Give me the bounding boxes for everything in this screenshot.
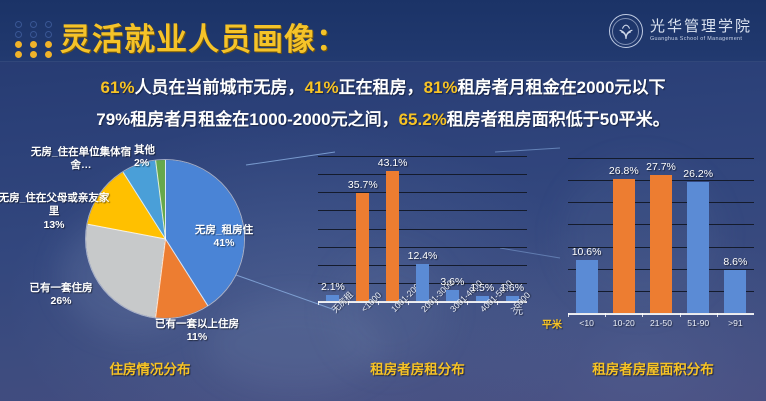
summary-line-1: 61%人员在当前城市无房，41%正在租房，81%租房者月租金在2000元以下	[101, 73, 666, 98]
summary-text: 租房者租房面积低于50平米。	[447, 110, 670, 129]
bar-value-label: 26.8%	[609, 165, 639, 177]
chart-title-area-distribution: 租房者房屋面积分布	[540, 358, 766, 378]
seal-icon	[609, 14, 643, 48]
pie-label-one-home: 已有一套住房 26%	[6, 282, 116, 309]
summary-line-2: 79%租房者月租金在1000-2000元之间，65.2%租房者租房面积低于50平…	[96, 105, 669, 130]
bar-4[interactable]: 26.2%	[687, 182, 709, 313]
bar-fill	[613, 179, 635, 313]
x-axis-tick	[437, 301, 438, 305]
x-axis-tick	[605, 313, 606, 317]
gridline	[318, 174, 527, 175]
bar-fill	[576, 260, 598, 313]
pie-slice-divider	[155, 239, 166, 318]
bar-3[interactable]: 27.7%	[650, 175, 672, 314]
x-axis-tick	[467, 301, 468, 305]
logo-name-en: Guanghua School of Management	[650, 37, 752, 42]
x-axis-label: >91	[728, 318, 743, 328]
x-axis-label: 10-20	[613, 318, 635, 328]
chart-title-housing-situation: 住房情况分布	[0, 358, 300, 378]
summary-stat: 41%	[305, 78, 339, 97]
x-axis-tick	[680, 313, 681, 317]
summary-text: 79%租房者月租金在1000-2000元之间，	[96, 110, 398, 129]
gridline	[318, 247, 527, 248]
bar-fill	[416, 264, 429, 301]
x-axis-label: 21-50	[650, 318, 672, 328]
bar-2[interactable]: 26.8%	[613, 179, 635, 313]
axis-unit-label: 元	[514, 304, 523, 317]
chart-rent-distribution-bar: 2.1%无房租35.7%<100043.1%1001-200012.4%2001…	[300, 146, 535, 346]
bar-value-label: 35.7%	[348, 179, 378, 191]
bar-fill	[687, 182, 709, 313]
x-axis-tick	[717, 313, 718, 317]
bar-value-label: 27.7%	[646, 161, 676, 173]
x-axis-tick	[497, 301, 498, 305]
bar-value-label: 8.6%	[723, 256, 747, 268]
x-axis-tick	[642, 313, 643, 317]
bar-fill	[356, 193, 369, 301]
summary-stat: 81%	[424, 78, 458, 97]
bar-value-label: 43.1%	[378, 157, 408, 169]
bar-5[interactable]: 8.6%	[724, 270, 746, 313]
gridline	[318, 229, 527, 230]
x-axis-label: <10	[579, 318, 594, 328]
x-axis-tick	[318, 301, 319, 305]
bar-value-label: 1.6%	[500, 282, 524, 294]
bar-fill	[650, 175, 672, 314]
axis-unit-label: 平米	[542, 316, 562, 331]
x-axis-tick	[378, 301, 379, 305]
bar-4[interactable]: 12.4%	[416, 264, 429, 301]
x-axis-label: 51-90	[687, 318, 709, 328]
slide-header: 灵活就业人员画像： 光华管理学院 Guanghua School of Mana…	[0, 0, 766, 62]
chart-housing-situation-pie: 无房_租房住 41% 已有一套以上住房 11% 已有一套住房 26% 无房_住在…	[0, 146, 300, 346]
page-title: 灵活就业人员画像：	[60, 14, 348, 59]
bar-fill	[724, 270, 746, 313]
chart-title-rent-distribution: 租房者房租分布	[300, 358, 535, 378]
bar-value-label: 3.6%	[440, 276, 464, 288]
pie-label-dormitory: 无房_住在单位集体宿舍…	[22, 146, 140, 173]
slide-canvas: 灵活就业人员画像： 光华管理学院 Guanghua School of Mana…	[0, 0, 766, 401]
bar-3[interactable]: 43.1%	[386, 171, 399, 301]
pie-label-more-than-one-home: 已有一套以上住房 11%	[122, 318, 272, 345]
bar-fill	[386, 171, 399, 301]
gridline	[318, 156, 527, 157]
bar-value-label: 10.6%	[572, 246, 602, 258]
x-axis-tick	[568, 313, 569, 317]
x-axis-tick	[348, 301, 349, 305]
pie-slice-divider	[123, 172, 166, 239]
chart-area-distribution-bar: 10.6%<1026.8%10-2027.7%21-5026.2%51-908.…	[540, 146, 766, 346]
summary-stat: 61%	[101, 78, 135, 97]
pie-slice-divider	[165, 160, 166, 239]
bar-value-label: 12.4%	[408, 250, 438, 262]
logo-name-cn: 光华管理学院	[650, 19, 752, 34]
summary-text: 人员在当前城市无房，	[135, 78, 305, 97]
bar-value-label: 2.1%	[321, 281, 345, 293]
summary-text-block: 61%人员在当前城市无房，41%正在租房，81%租房者月租金在2000元以下 7…	[0, 62, 766, 140]
summary-text: 租房者月租金在2000元以下	[458, 78, 666, 97]
bar-1[interactable]: 10.6%	[576, 260, 598, 313]
bar-2[interactable]: 35.7%	[356, 193, 369, 301]
decorative-dot-grid	[15, 21, 57, 54]
pie-label-renting: 无房_租房住 41%	[176, 224, 272, 251]
gridline	[318, 210, 527, 211]
summary-text: 正在租房，	[339, 78, 424, 97]
pie-label-other: 其他 2%	[134, 144, 155, 171]
bar-value-label: 26.2%	[683, 168, 713, 180]
gridline	[318, 192, 527, 193]
pie-label-living-with-family: 无房_住在父母或亲友家里 13%	[0, 192, 110, 232]
institution-logo: 光华管理学院 Guanghua School of Management	[609, 11, 752, 51]
x-axis-line	[568, 313, 754, 315]
gridline	[568, 158, 754, 159]
summary-stat: 65.2%	[399, 110, 447, 129]
x-axis-tick	[408, 301, 409, 305]
